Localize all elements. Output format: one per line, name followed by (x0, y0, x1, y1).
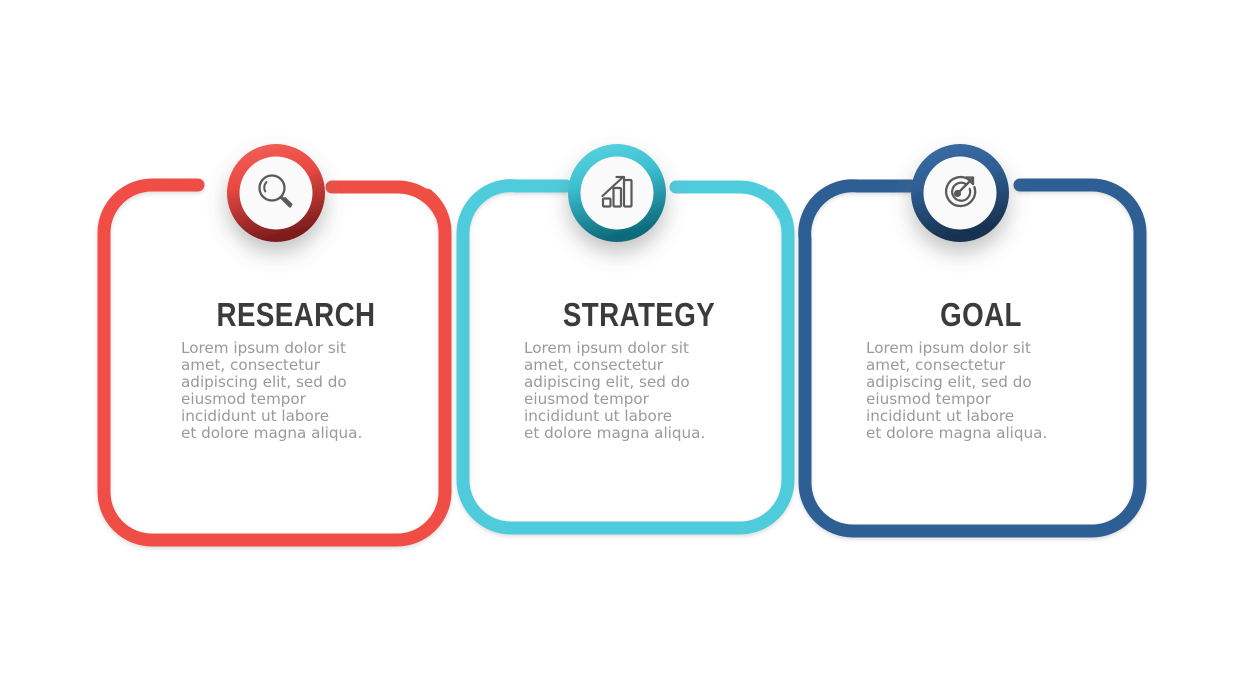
research-badge-face (240, 157, 313, 230)
strategy-connector-stub (676, 187, 783, 214)
step-body-goal: Lorem ipsum dolor sit amet, consectetur … (866, 340, 1096, 442)
step-title-goal: GOAL (884, 298, 1077, 331)
badge-strategy[interactable] (568, 144, 666, 242)
research-connector-stub (332, 187, 441, 214)
badge-research[interactable] (227, 144, 325, 242)
strategy-badge-face (581, 157, 654, 230)
badge-goal[interactable] (911, 144, 1009, 242)
step-body-research: Lorem ipsum dolor sit amet, consectetur … (181, 340, 411, 442)
step-text-research: RESEARCH Lorem ipsum dolor sit amet, con… (181, 298, 411, 442)
step-text-goal: GOAL Lorem ipsum dolor sit amet, consect… (866, 298, 1096, 442)
infographic-canvas: RESEARCH Lorem ipsum dolor sit amet, con… (0, 0, 1244, 700)
step-title-strategy: STRATEGY (542, 298, 735, 331)
step-title-research: RESEARCH (199, 298, 392, 331)
step-body-strategy: Lorem ipsum dolor sit amet, consectetur … (524, 340, 754, 442)
step-text-strategy: STRATEGY Lorem ipsum dolor sit amet, con… (524, 298, 754, 442)
